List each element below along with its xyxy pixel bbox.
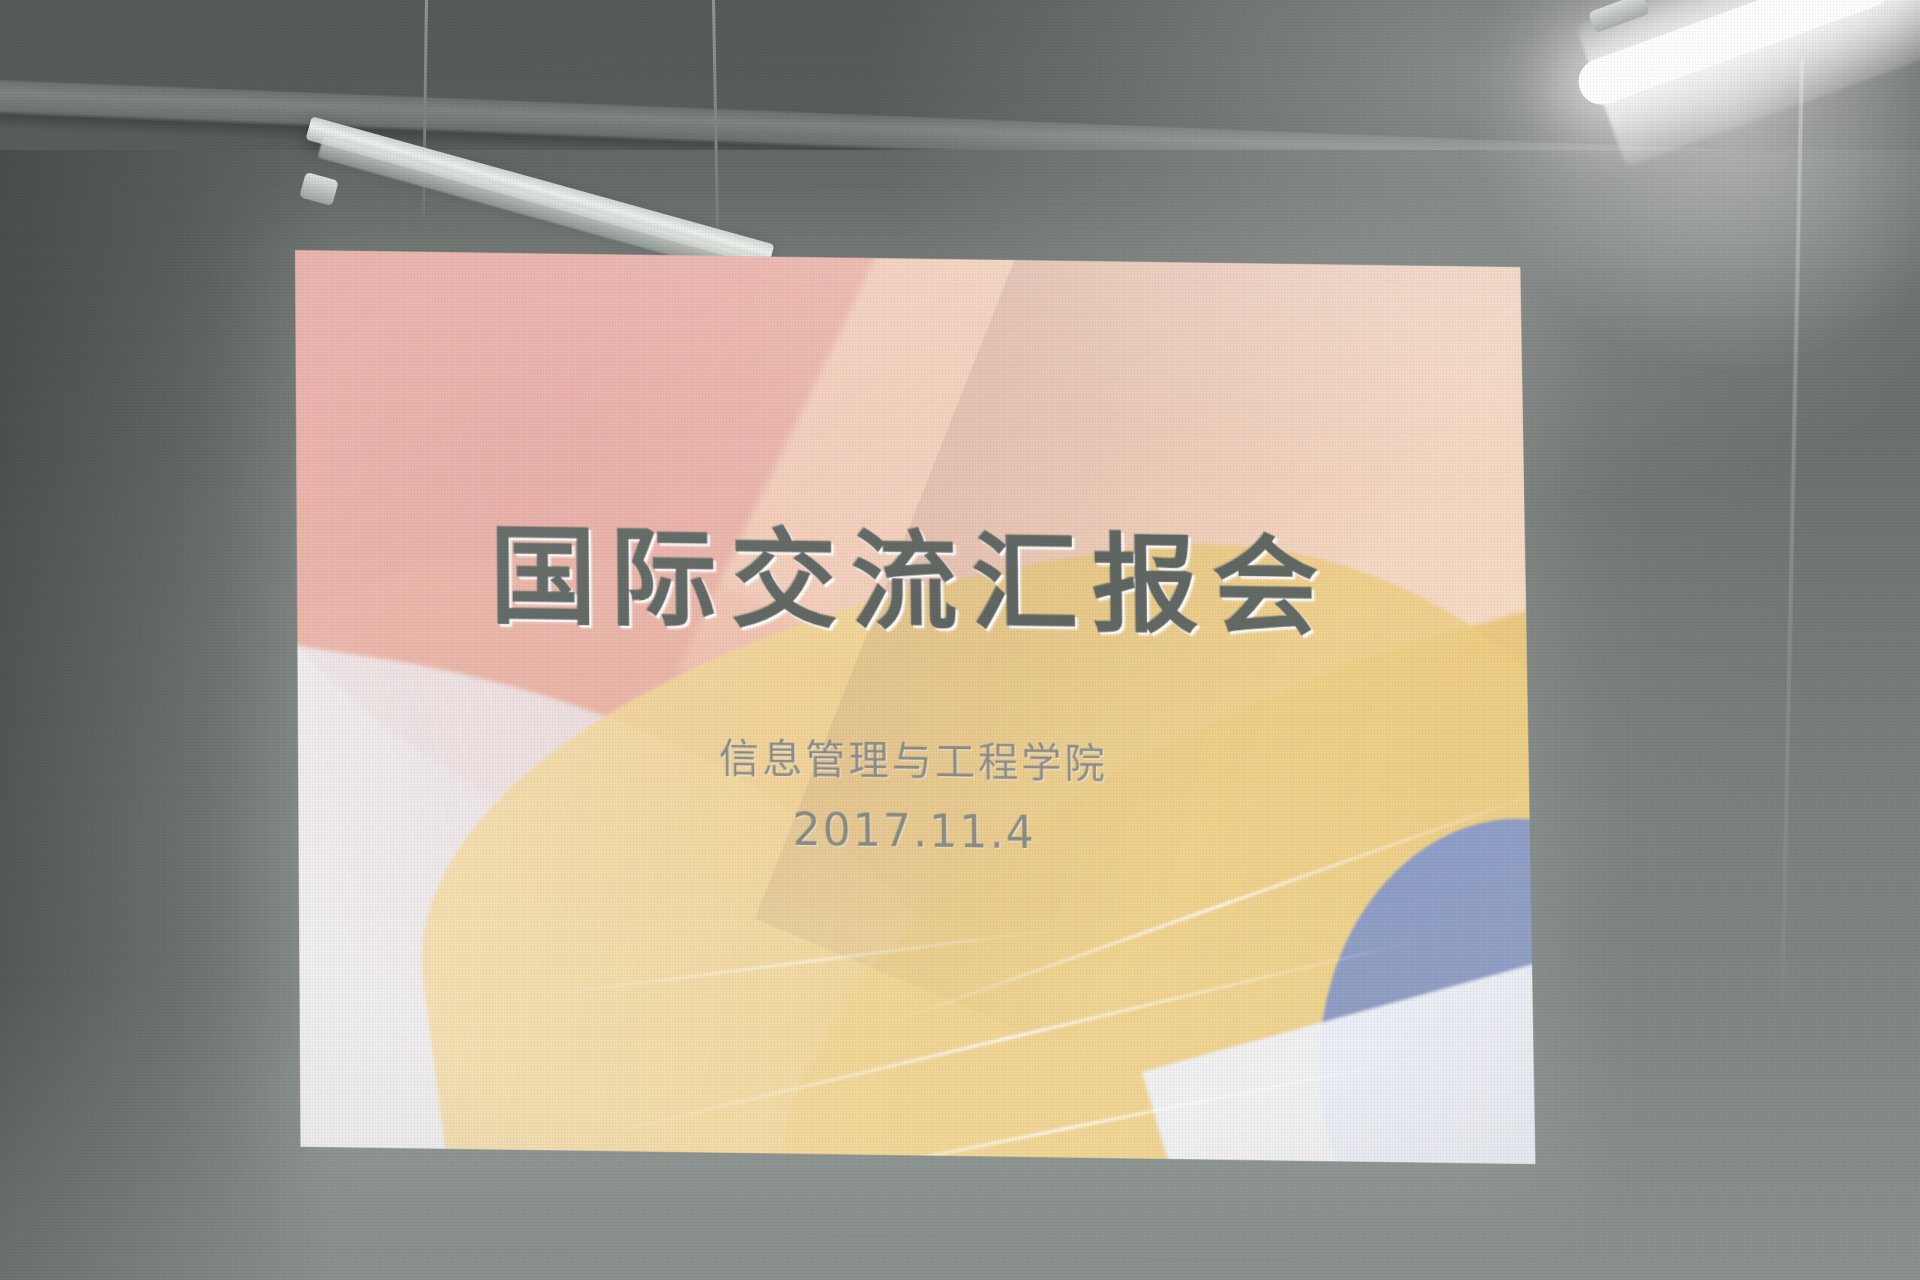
slide-title: 国际交流汇报会 [296,486,1526,658]
slide-canvas: 国际交流汇报会 信息管理与工程学院 2017.11.4 [295,250,1535,1164]
slide-text-layer: 国际交流汇报会 信息管理与工程学院 2017.11.4 [295,250,1535,1164]
slide-date: 2017.11.4 [298,797,1530,866]
room-photograph: 国际交流汇报会 信息管理与工程学院 2017.11.4 [0,0,1920,1280]
projected-slide: 国际交流汇报会 信息管理与工程学院 2017.11.4 [295,250,1535,1164]
slide-subtitle: 信息管理与工程学院 [298,720,1529,796]
